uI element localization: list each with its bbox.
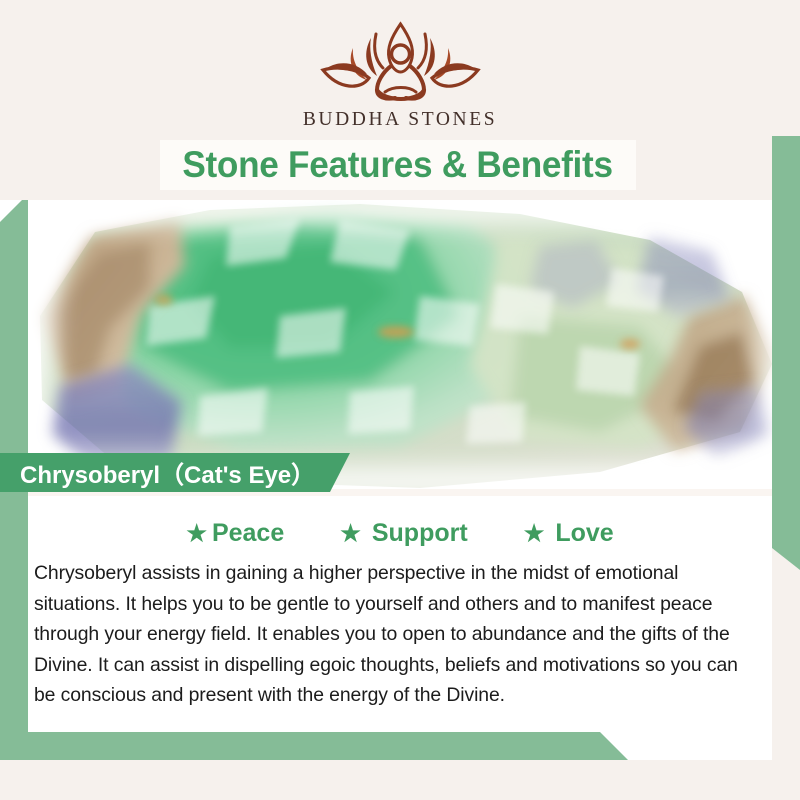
star-icon: ★ <box>186 522 207 545</box>
keyword-label: Love <box>555 519 613 548</box>
stone-description: Chrysoberyl assists in gaining a higher … <box>34 558 764 711</box>
title-plate: Stone Features & Benefits <box>160 140 636 190</box>
frame-border-bottom <box>0 732 628 760</box>
keyword-support: ★ Support <box>340 519 467 548</box>
lotus-meditation-figure-icon <box>313 18 488 104</box>
keyword-peace: ★ Peace <box>186 519 284 548</box>
infographic-page: BUDDHA STONES Stone Features & Benefits … <box>0 0 800 800</box>
star-icon: ★ <box>524 522 545 545</box>
keyword-love: ★ Love <box>524 519 614 548</box>
stone-photo <box>0 196 800 496</box>
brand-name: BUDDHA STONES <box>303 109 497 131</box>
page-title: Stone Features & Benefits <box>183 144 613 186</box>
keyword-label: Peace <box>212 519 284 548</box>
keyword-label: Support <box>372 519 468 548</box>
brand-logo: BUDDHA STONES <box>0 18 800 138</box>
stone-name: Chrysoberyl（Cat's Eye） <box>20 455 315 490</box>
stone-name-banner: Chrysoberyl（Cat's Eye） <box>0 453 350 492</box>
footer-band <box>0 760 800 800</box>
star-icon: ★ <box>340 522 361 545</box>
frame-border-right <box>772 136 800 570</box>
keyword-list: ★ Peace ★ Support ★ Love <box>28 512 772 554</box>
